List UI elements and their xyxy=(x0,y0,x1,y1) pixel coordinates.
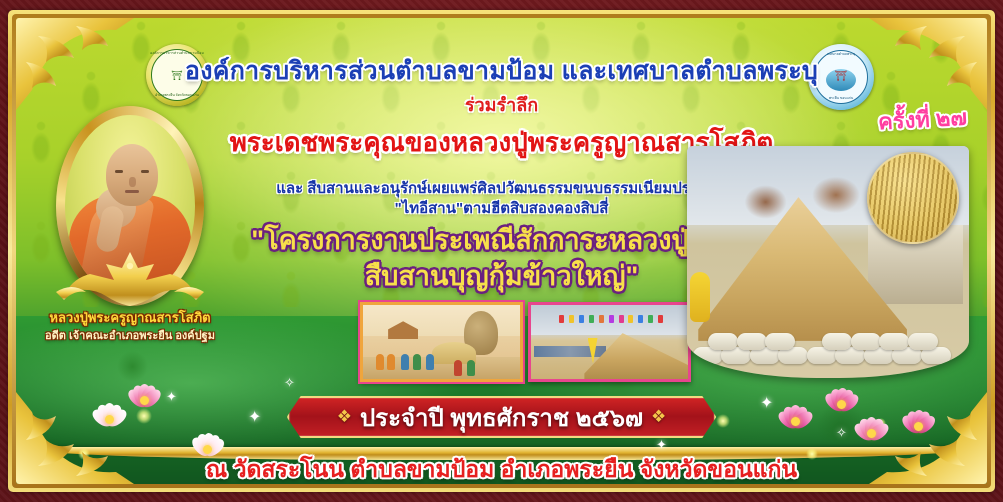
lotus-flower xyxy=(826,394,856,418)
venue-line: ณ วัดสระโนน ตำบลขามป้อม อำเภอพระยืน จังห… xyxy=(206,452,797,484)
project-title-line-2: สืบสานบุญกุ้มข้าวใหญ่" xyxy=(365,254,639,297)
organizer-title: องค์การบริหารส่วนตำบลขามป้อม และเทศบาลตำ… xyxy=(185,51,818,91)
temple-icon: ⛩ xyxy=(835,71,848,82)
main-photo-rice-sacks xyxy=(693,318,952,364)
banner-stage: ✦ ✦ ✧ ✦ ✧ ✦ xyxy=(16,18,987,484)
ribbon-ornament-right: ❖ xyxy=(643,407,674,427)
mural-figure xyxy=(467,360,475,376)
mural-figure xyxy=(376,354,384,370)
monk-nose xyxy=(129,177,136,187)
lotus-flower xyxy=(902,416,934,440)
mural-figure xyxy=(387,354,395,370)
mural-figure xyxy=(426,354,434,370)
monk-head xyxy=(106,144,158,206)
lotus-flower xyxy=(778,410,812,436)
photo-inset-golden-rice-stalks xyxy=(867,152,959,244)
temple-icon: ⛩ xyxy=(171,71,182,82)
purpose-line-2: "ไทอีสาน"ตามฮีตสิบสองคองสิบสี่ xyxy=(395,196,609,220)
main-photo-yellow-garland xyxy=(690,272,710,322)
mural-figure xyxy=(454,360,462,376)
year-text: ประจำปี พุทธศักราช ๒๕๖๗ xyxy=(360,398,643,437)
festival-flag-line xyxy=(559,315,669,331)
lotus-flower xyxy=(128,390,160,414)
monk-mouth xyxy=(125,190,139,193)
event-banner: ✦ ✦ ✧ ✦ ✧ ✦ xyxy=(0,0,1003,502)
monk-portrait-block: หลวงปู่พระครูญาณสารโสภิต อดีต เจ้าคณะอำเ… xyxy=(50,106,210,338)
monk-name-caption: หลวงปู่พระครูญาณสารโสภิต xyxy=(49,307,210,328)
mural-figure xyxy=(413,354,421,370)
photo-rice-festival xyxy=(528,302,691,382)
commemorate-label: ร่วมรำลึก xyxy=(465,90,538,119)
year-ribbon: ❖ ประจำปี พุทธศักราช ๒๕๖๗ ❖ xyxy=(287,396,717,438)
logo-right-bottom-text: พระยืน ขอนแก่น xyxy=(808,96,874,101)
logo-left-bottom-text: อำเภอพระยืน จังหวัดขอนแก่น xyxy=(146,93,208,98)
mural-figure xyxy=(401,354,409,370)
ribbon-ornament-left: ❖ xyxy=(329,407,360,427)
portrait-kranok-base xyxy=(50,248,210,310)
monk-position-caption: อดีต เจ้าคณะอำเภอพระยืน องค์ปฐม xyxy=(45,326,215,344)
photo-mural-village-scene xyxy=(360,302,523,382)
lotus-flower xyxy=(92,408,126,434)
edition-badge: ครั้งที่ ๒๗ xyxy=(877,100,968,140)
lotus-flower xyxy=(854,422,888,448)
